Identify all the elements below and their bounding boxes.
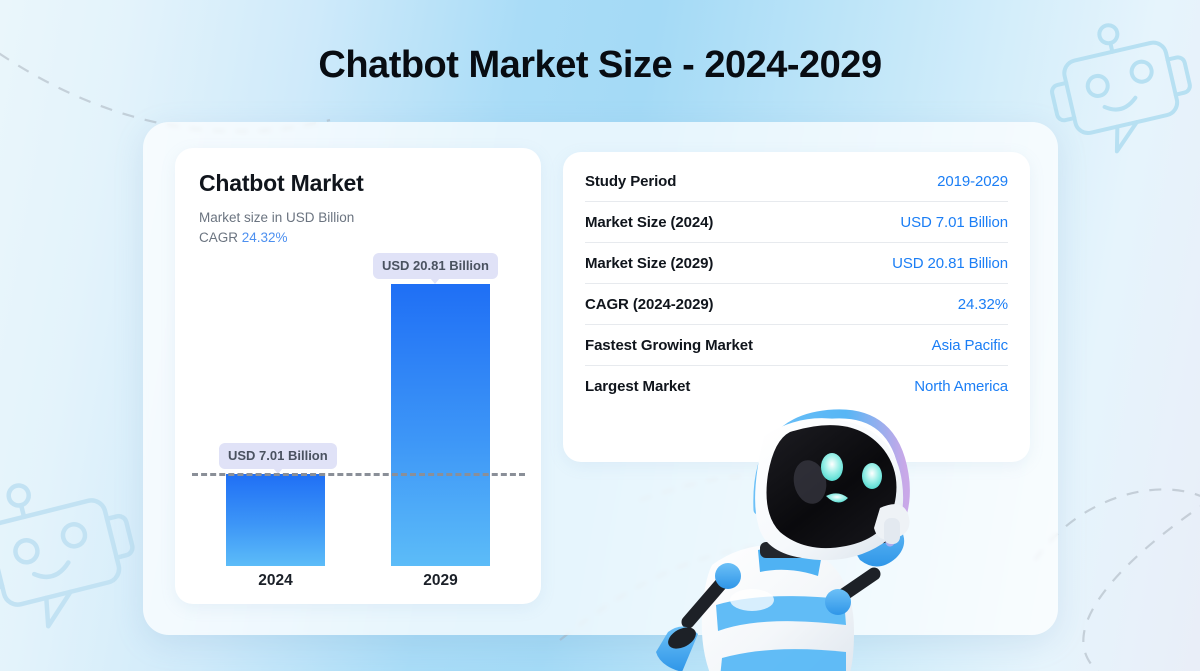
table-row-label: CAGR (2024-2029) [585,296,713,313]
table-row: Fastest Growing Market Asia Pacific [585,325,1008,366]
table-row-label: Study Period [585,173,676,190]
table-row-value: 24.32% [958,296,1008,313]
table-row-value: USD 20.81 Billion [892,255,1008,272]
bar-value-badge-2024: USD 7.01 Billion [219,443,337,469]
bar-2024[interactable] [226,474,325,566]
table-row: CAGR (2024-2029) 24.32% [585,284,1008,325]
table-row-label: Market Size (2029) [585,255,713,272]
table-row: Market Size (2024) USD 7.01 Billion [585,202,1008,243]
x-axis-label-2029: 2029 [391,572,490,590]
table-row-label: Fastest Growing Market [585,337,753,354]
robot-outline-icon [1040,18,1200,168]
table-row-value: North America [914,378,1008,395]
table-row-label: Market Size (2024) [585,214,713,231]
table-row: Study Period 2019-2029 [585,161,1008,202]
table-row-value: USD 7.01 Billion [900,214,1008,231]
market-summary-table: Study Period 2019-2029 Market Size (2024… [563,152,1030,462]
x-axis-label-2024: 2024 [226,572,325,590]
table-row-label: Largest Market [585,378,690,395]
bar-value-badge-2029: USD 20.81 Billion [373,253,498,279]
table-row-value: 2019-2029 [937,173,1008,190]
reference-dashed-line [192,473,525,476]
table-row: Market Size (2029) USD 20.81 Billion [585,243,1008,284]
page-title: Chatbot Market Size - 2024-2029 [0,44,1200,87]
table-row: Largest Market North America [585,366,1008,406]
robot-outline-icon [0,458,160,648]
table-row-value: Asia Pacific [932,337,1008,354]
chart-card: Chatbot Market Market size in USD Billio… [175,148,541,604]
bar-2029[interactable] [391,284,490,566]
bar-chart-plot-area: USD 20.81 Billion USD 7.01 Billion 2024 … [175,148,541,604]
